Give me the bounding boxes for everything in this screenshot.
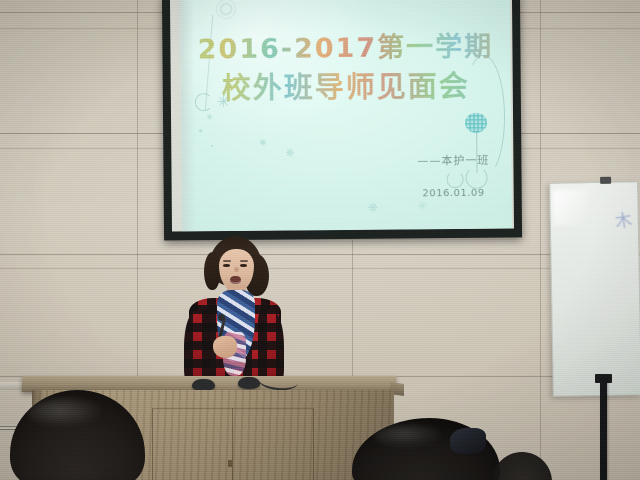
photo-scene: ✳ ✳ ❋ ✺ ❋ ✳ 2016-2017第一学期 校外班导师见面会 ——本护一… — [0, 0, 640, 480]
photo-vignette — [0, 0, 640, 480]
